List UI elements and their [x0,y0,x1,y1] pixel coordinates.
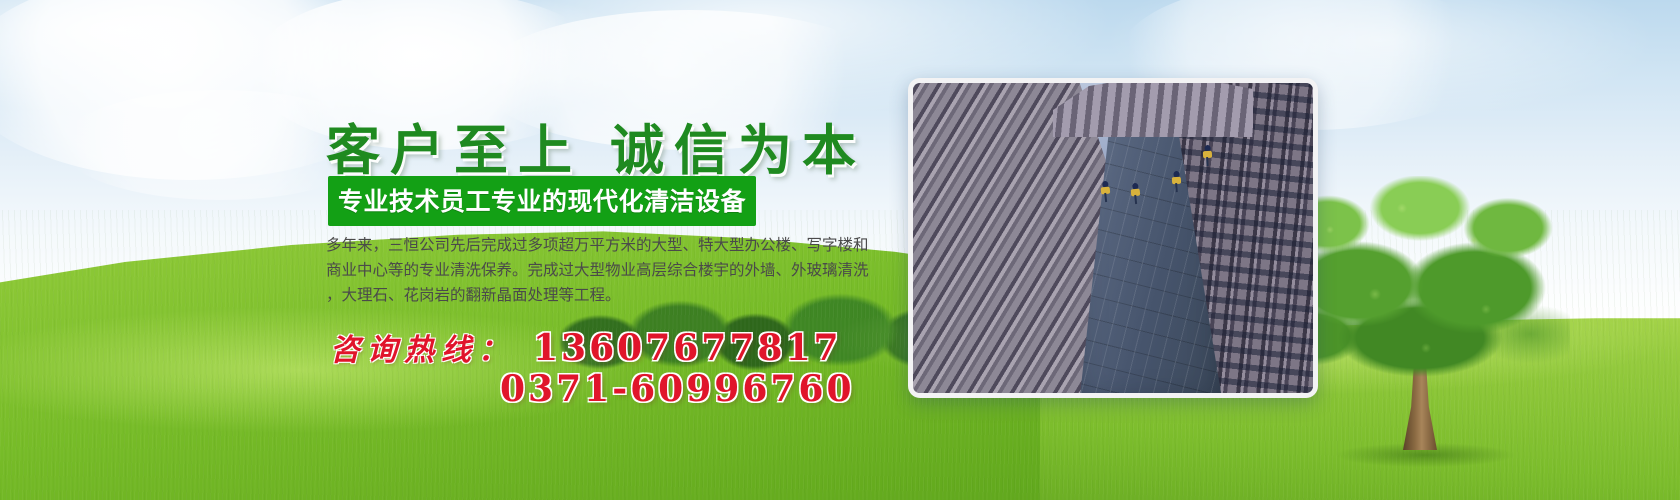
paragraph-line: ，大理石、花岗岩的翻新晶面处理等工程。 [326,283,886,308]
description-paragraph: 多年来，三恒公司先后完成过多项超万平方米的大型、特大型办公楼、写字楼和 商业中心… [326,233,886,308]
headline-part-right: 诚信为本 [610,118,866,182]
banner-content: 客户至上诚信为本 专业技术员工专业的现代化清洁设备 多年来，三恒公司先后完成过多… [0,0,1680,500]
hotline-secondary: 0371-60996760 [500,368,855,410]
headline-part-left: 客户至上 [326,118,582,182]
hotline-label: 咨询热线： [330,333,515,368]
promo-banner: 客户至上诚信为本 专业技术员工专业的现代化清洁设备 多年来，三恒公司先后完成过多… [0,0,1680,500]
subtitle-bar: 专业技术员工专业的现代化清洁设备 [328,176,756,226]
paragraph-line: 多年来，三恒公司先后完成过多项超万平方米的大型、特大型办公楼、写字楼和 [326,233,886,258]
hotline-number-primary[interactable]: 13607677817 [533,327,842,369]
hotline-primary: 咨询热线：13607677817 [330,325,842,369]
paragraph-line: 商业中心等的专业清洗保养。完成过大型物业高层综合楼宇的外墙、外玻璃清洗 [326,258,886,283]
hotline-number-secondary[interactable]: 0371-60996760 [500,368,855,410]
subtitle-text: 专业技术员工专业的现代化清洁设备 [338,187,746,216]
banner-headline: 客户至上诚信为本 [326,106,866,185]
